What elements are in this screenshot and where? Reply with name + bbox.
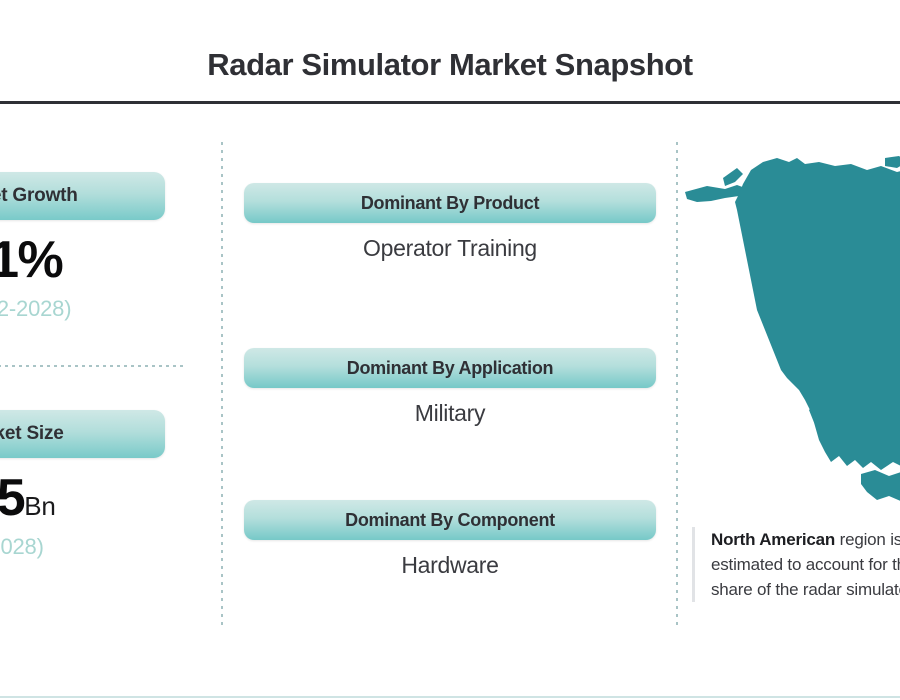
footer-divider	[0, 696, 900, 698]
segment-label-application: Dominant By Application	[244, 348, 656, 388]
stat-note-market-growth: (2022-2028)	[0, 296, 165, 322]
segment-label-component: Dominant By Component	[244, 500, 656, 540]
segment-value-product: Operator Training	[244, 235, 656, 262]
segment-card-product: Dominant By Product Operator Training	[244, 183, 656, 223]
stat-value-market-size: 25Bn	[0, 468, 165, 528]
segment-value-application: Military	[244, 400, 656, 427]
stat-label-market-growth: Market Growth	[0, 172, 165, 220]
stat-card-market-size: Market Size 25Bn (2028)	[0, 410, 165, 458]
stat-unit-market-size: Bn	[24, 491, 55, 521]
stats-divider	[0, 365, 185, 367]
stat-note-market-size: (2028)	[0, 534, 165, 560]
stat-number-market-growth: 21%	[0, 231, 62, 289]
header-divider	[0, 101, 900, 104]
stat-value-market-growth: 21%	[0, 230, 165, 290]
north-america-map-icon	[685, 156, 900, 516]
header: Radar Simulator Market Snapshot	[0, 0, 900, 104]
segment-card-component: Dominant By Component Hardware	[244, 500, 656, 540]
segment-pill-product: Dominant By Product	[244, 183, 656, 223]
stat-label-market-size: Market Size	[0, 410, 165, 458]
segments-column: Dominant By Product Operator Training Do…	[222, 142, 676, 626]
segment-card-application: Dominant By Application Military	[244, 348, 656, 388]
region-column: North American region is estimated to ac…	[677, 142, 900, 626]
segment-value-component: Hardware	[244, 552, 656, 579]
segment-pill-component: Dominant By Component	[244, 500, 656, 540]
region-note: North American region is estimated to ac…	[692, 527, 900, 602]
stat-pill-market-size: Market Size	[0, 410, 165, 458]
stat-pill-market-growth: Market Growth	[0, 172, 165, 220]
segment-label-product: Dominant By Product	[244, 183, 656, 223]
stat-number-market-size: 25	[0, 469, 24, 527]
region-note-lead: North American	[711, 530, 835, 549]
segment-pill-application: Dominant By Application	[244, 348, 656, 388]
stats-column: Market Growth 21% (2022-2028) Market Siz…	[0, 142, 205, 626]
infographic-page: Radar Simulator Market Snapshot Market G…	[0, 0, 900, 700]
stat-card-market-growth: Market Growth 21% (2022-2028)	[0, 172, 165, 220]
page-title: Radar Simulator Market Snapshot	[0, 47, 900, 83]
north-america-map	[685, 156, 900, 516]
